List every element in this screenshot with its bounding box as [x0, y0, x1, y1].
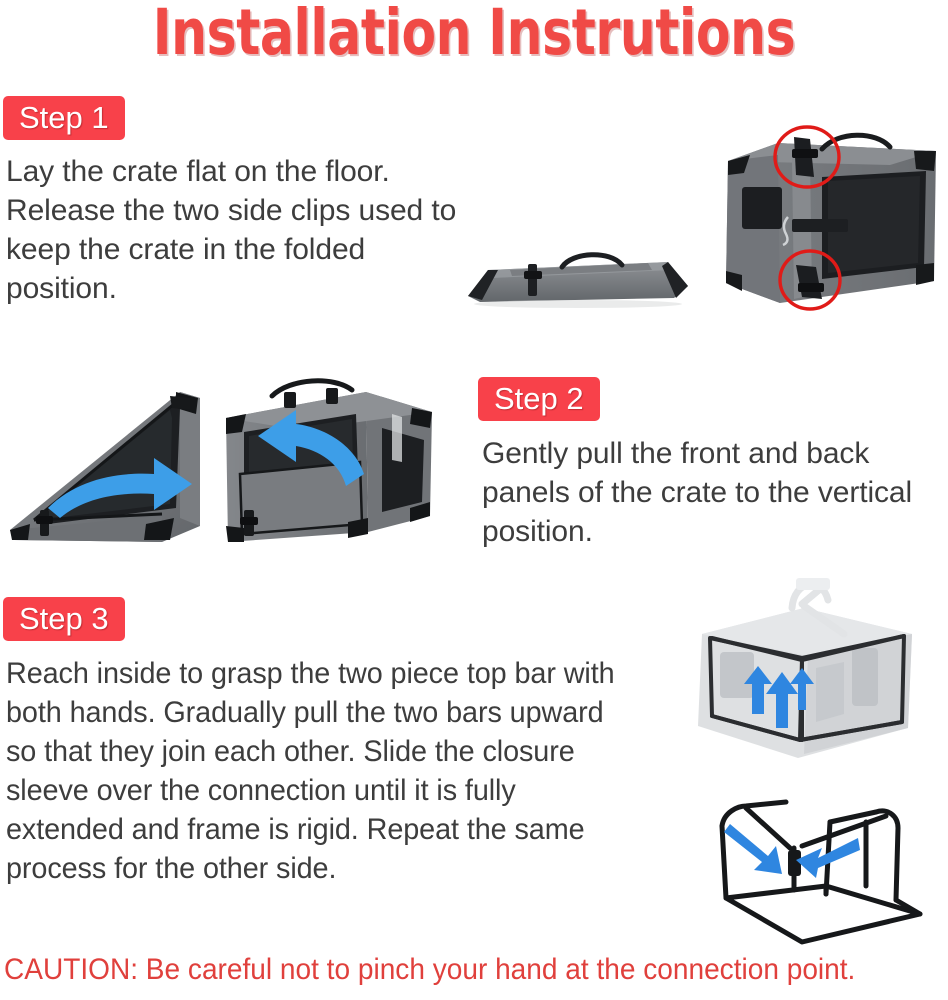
- crate-half-unfolded-image: [4, 368, 218, 558]
- crate-interior-frame-image: [676, 572, 934, 782]
- instruction-sheet: Installation Instrutions Step 1 Lay the …: [0, 0, 948, 1000]
- bare-frame-connection-image: [690, 782, 940, 958]
- step-3-badge: Step 3: [3, 597, 125, 641]
- folded-crate-flat-image: [452, 240, 702, 320]
- step-2-text: Gently pull the front and back panels of…: [482, 434, 944, 551]
- crate-upright-image: [216, 370, 446, 560]
- folded-crate-side-clips-image: [718, 125, 944, 317]
- step-2-badge: Step 2: [478, 377, 600, 421]
- page-title: Installation Instrutions: [95, 0, 853, 68]
- step-3-text: Reach inside to grasp the two piece top …: [6, 654, 640, 888]
- step-1-text: Lay the crate flat on the floor. Release…: [6, 152, 468, 308]
- caution-note: CAUTION: Be careful not to pinch your ha…: [4, 952, 887, 988]
- step-1-badge: Step 1: [3, 96, 125, 140]
